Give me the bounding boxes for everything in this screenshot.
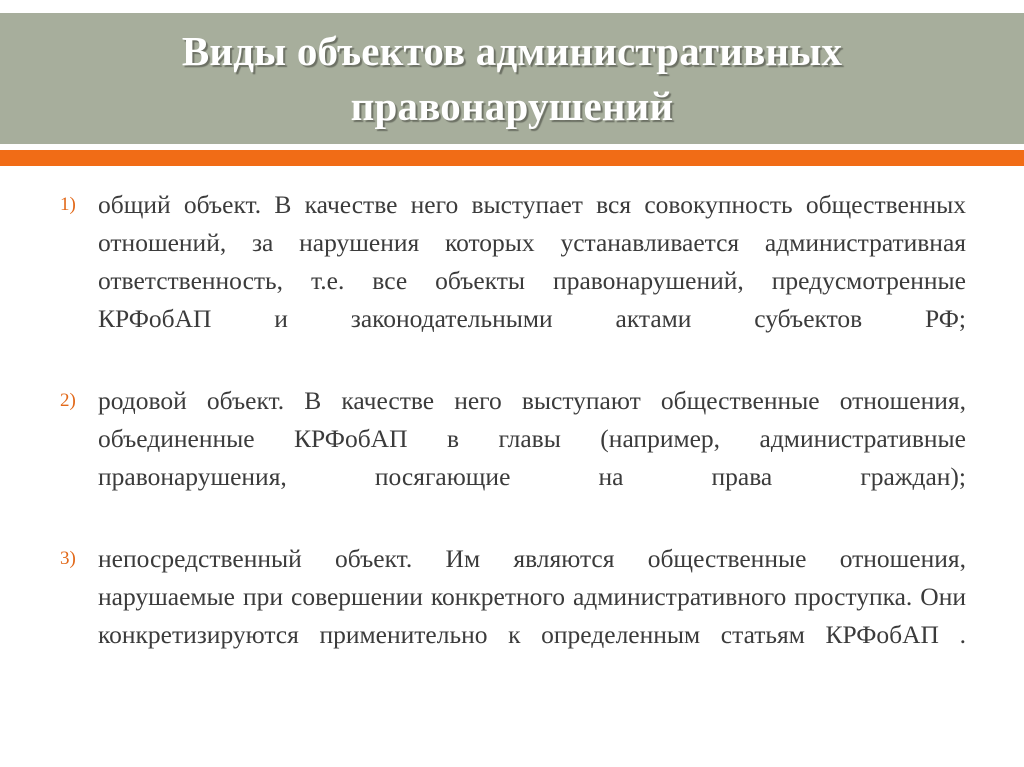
list-item: 1) общий объект. В качестве него выступа… — [58, 186, 966, 376]
list-item-text: родовой объект. В качестве него выступаю… — [98, 382, 966, 534]
list-item-text: общий объект. В качестве него выступает … — [98, 186, 966, 376]
page-title: Виды объектов административных правонару… — [60, 24, 964, 132]
slide-body: 1) общий объект. В качестве него выступа… — [58, 186, 966, 692]
list-item-marker: 1) — [58, 186, 98, 224]
slide: Виды объектов административных правонару… — [0, 0, 1024, 767]
list-item-marker: 3) — [58, 540, 98, 578]
accent-divider — [0, 150, 1024, 166]
list-item: 2) родовой объект. В качестве него высту… — [58, 382, 966, 534]
slide-title-banner: Виды объектов административных правонару… — [0, 13, 1024, 144]
list-item-text: непосредственный объект. Им являются общ… — [98, 540, 966, 692]
list-item: 3) непосредственный объект. Им являются … — [58, 540, 966, 692]
list-item-marker: 2) — [58, 382, 98, 420]
